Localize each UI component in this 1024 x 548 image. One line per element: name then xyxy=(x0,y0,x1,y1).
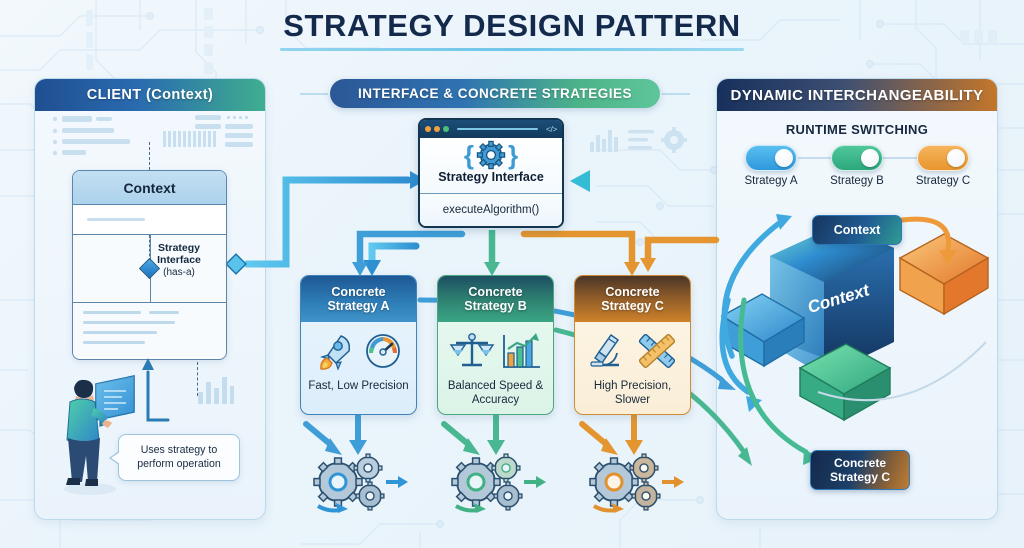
card-a-header: Concrete Strategy A xyxy=(301,276,416,322)
interface-icon-row: { } xyxy=(464,140,518,170)
gear-icon xyxy=(477,141,505,169)
rulers-icon xyxy=(634,329,680,373)
uml-context-class: Context Strategy Interface (has-a) xyxy=(72,170,227,360)
microscope-icon xyxy=(585,329,629,373)
uml-context-title: Context xyxy=(73,171,226,205)
card-a-caption: Fast, Low Precision xyxy=(301,380,416,394)
card-a-icons xyxy=(301,322,416,380)
card-concrete-strategy-b: Concrete Strategy B B xyxy=(437,275,554,415)
client-dashed-line-lower xyxy=(197,362,198,396)
gear-cluster-c xyxy=(576,452,696,522)
traffic-light-3-icon xyxy=(443,126,449,132)
brace-right: } xyxy=(508,142,518,168)
code-glyph-icon: </> xyxy=(546,124,557,134)
card-c-header: Concrete Strategy C xyxy=(575,276,690,322)
uml-relationship-section: Strategy Interface (has-a) xyxy=(73,235,226,303)
toggle-strategy-c-wrap: Strategy C xyxy=(905,145,981,187)
center-section-badge: INTERFACE & CONCRETE STRATEGIES xyxy=(330,79,660,108)
card-b-header: Concrete Strategy B xyxy=(438,276,553,322)
toggle-strategy-a[interactable] xyxy=(745,145,797,171)
card-concrete-strategy-c: Concrete Strategy C xyxy=(574,275,691,415)
client-placeholder-right xyxy=(163,113,255,159)
bar-chart-growth-icon xyxy=(500,329,542,373)
card-b-caption: Balanced Speed & Accuracy xyxy=(438,380,553,408)
strategy-interface-method: executeAlgorithm() xyxy=(420,194,562,226)
actor-speech-bubble: Uses strategy to perform operation xyxy=(118,434,240,481)
strategy-interface-title: Strategy Interface xyxy=(438,170,544,184)
toggle-strategy-b-wrap: Strategy B xyxy=(819,145,895,187)
context-chip: Context xyxy=(812,215,902,245)
gear-cluster-b xyxy=(438,452,558,522)
analytics-gear-decoration-icon xyxy=(590,122,690,158)
traffic-light-2-icon xyxy=(434,126,440,132)
brace-left: { xyxy=(464,142,474,168)
orange-strategy-block xyxy=(900,234,988,314)
uml-attributes-section xyxy=(73,205,226,235)
card-b-icons xyxy=(438,322,553,380)
runtime-toggle-group: Strategy A Strategy B Strategy C xyxy=(728,145,986,187)
titlebar-line xyxy=(457,128,538,130)
title-underline xyxy=(280,48,744,51)
placeholder-bars-icon xyxy=(163,113,255,159)
gear-cluster-a xyxy=(300,452,420,522)
panel-right-header: DYNAMIC INTERCHANGEABILITY xyxy=(717,79,997,111)
uml-strategy-reference: Strategy Interface (has-a) xyxy=(136,243,222,278)
card-concrete-strategy-a: Concrete Strategy A Fast, Low xyxy=(300,275,417,415)
uml-methods-section xyxy=(73,303,226,357)
card-c-icons xyxy=(575,322,690,380)
interface-card-body: { } xyxy=(420,138,562,194)
card-c-caption: High Precision, Slower xyxy=(575,380,690,408)
strategy-interface-card: </> { xyxy=(418,118,564,228)
page-title-block: STRATEGY DESIGN PATTERN xyxy=(0,8,1024,51)
toggle-knob xyxy=(947,149,965,167)
runtime-switching-title: RUNTIME SWITCHING xyxy=(716,122,998,137)
center-decoration xyxy=(590,122,690,158)
badge-tick-left xyxy=(300,93,328,95)
speedometer-icon xyxy=(361,329,405,373)
client-placeholder-left xyxy=(52,114,144,160)
page-title: STRATEGY DESIGN PATTERN xyxy=(0,8,1024,44)
badge-tick-right xyxy=(662,93,690,95)
card-titlebar: </> xyxy=(420,120,562,138)
toggle-knob xyxy=(861,149,879,167)
uml-method-lines-icon xyxy=(83,311,227,360)
bar-chart-icon xyxy=(196,368,236,408)
toggle-strategy-b-label: Strategy B xyxy=(819,175,895,187)
traffic-light-1-icon xyxy=(425,126,431,132)
scales-icon xyxy=(449,329,495,373)
concrete-strategy-c-chip: Concrete Strategy C xyxy=(810,450,910,490)
toggle-strategy-c-label: Strategy C xyxy=(905,175,981,187)
toggle-strategy-a-wrap: Strategy A xyxy=(733,145,809,187)
client-chart-decoration xyxy=(196,368,236,408)
panel-client-header: CLIENT (Context) xyxy=(35,79,265,111)
uml-top-dashed-line xyxy=(149,142,150,170)
uml-attr-line xyxy=(87,218,145,221)
toggle-strategy-c[interactable] xyxy=(917,145,969,171)
infographic-canvas: STRATEGY DESIGN PATTERN CLIENT (Context) xyxy=(0,0,1024,548)
toggle-strategy-b[interactable] xyxy=(831,145,883,171)
rocket-icon xyxy=(312,329,356,373)
toggle-knob xyxy=(775,149,793,167)
placeholder-lines-icon xyxy=(52,114,144,160)
toggle-strategy-a-label: Strategy A xyxy=(733,175,809,187)
